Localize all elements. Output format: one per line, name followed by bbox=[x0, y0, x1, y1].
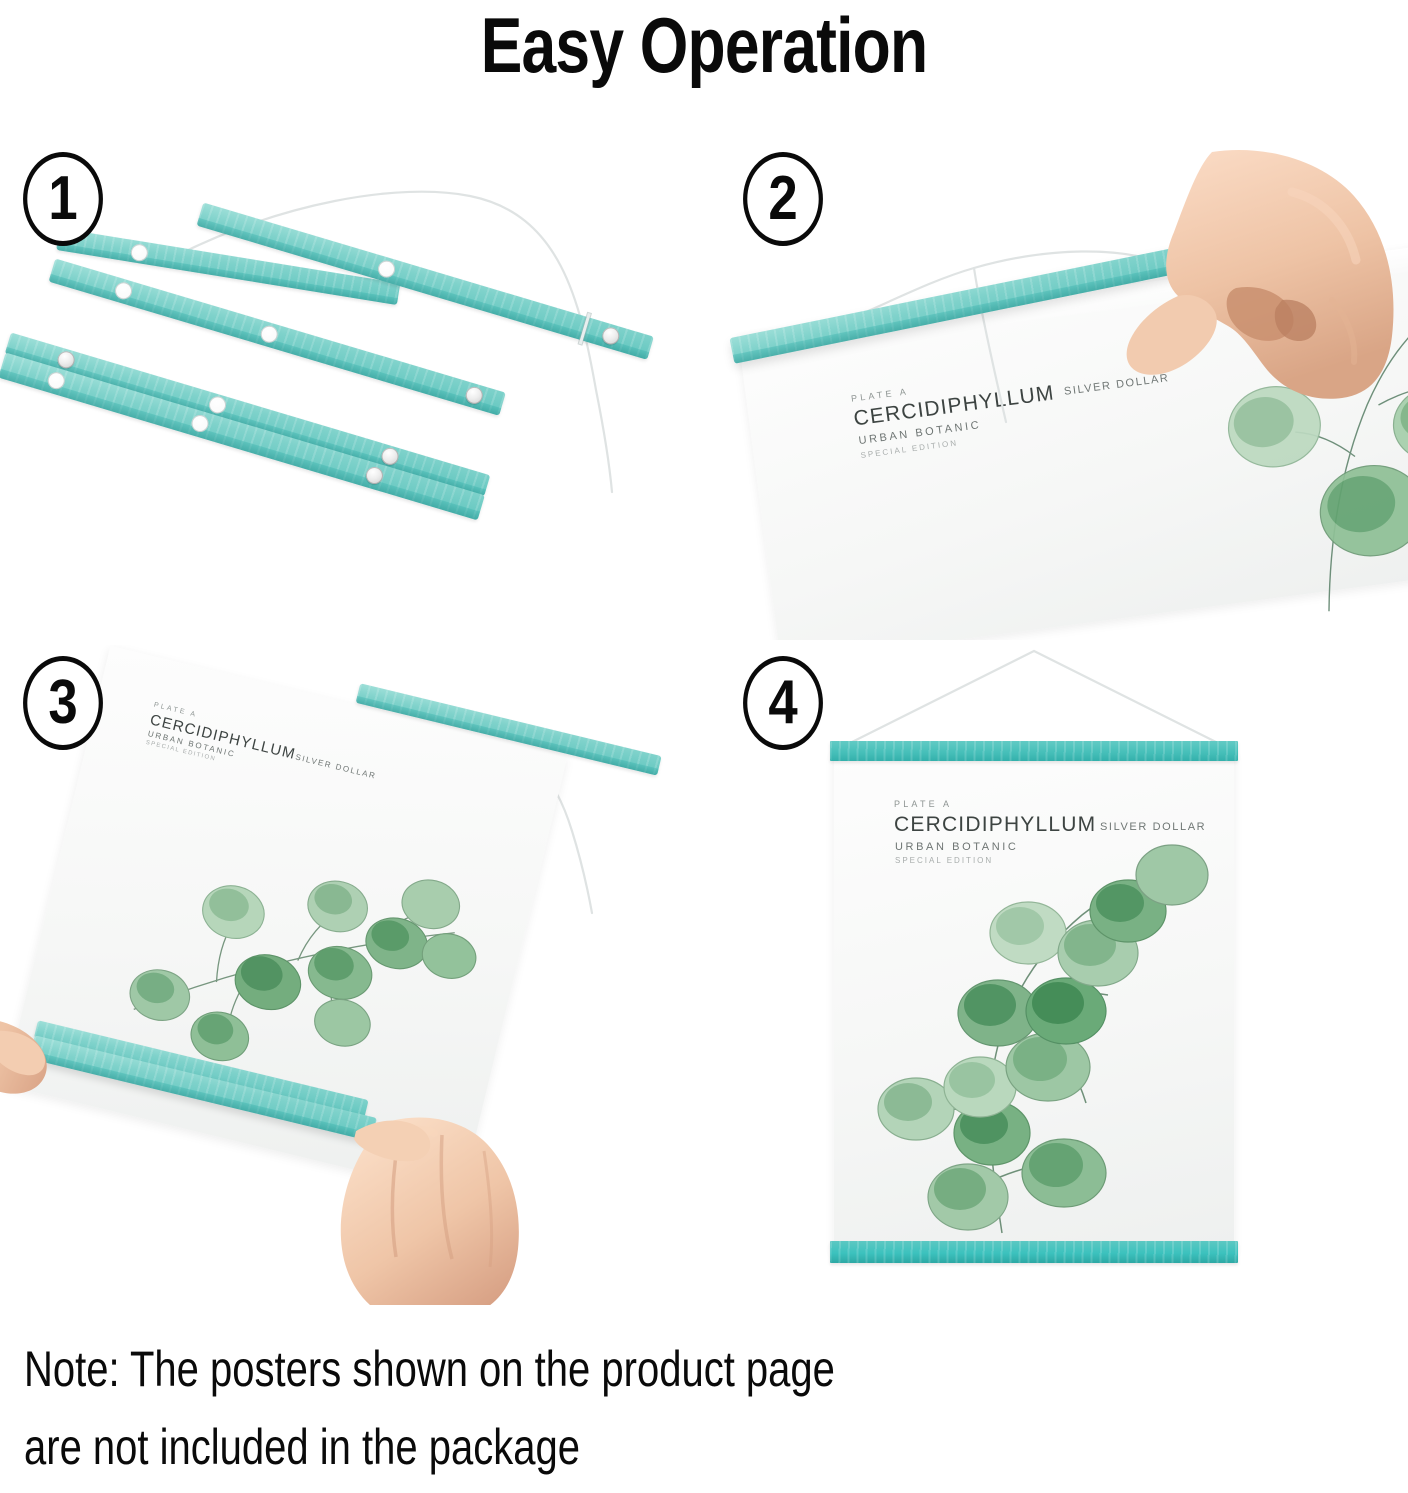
poster-edition: SPECIAL EDITION bbox=[895, 856, 993, 865]
frame-rail-top bbox=[830, 741, 1238, 761]
step-badge-3: 3 bbox=[23, 656, 103, 750]
page-title: Easy Operation bbox=[141, 2, 1267, 88]
poster-artwork-leaves bbox=[876, 881, 1206, 1241]
hand-pressing-rail bbox=[1086, 150, 1408, 440]
poster-variety: SILVER DOLLAR bbox=[295, 752, 378, 780]
hand-left-holding-rail bbox=[0, 985, 84, 1185]
hand-right-holding-rail bbox=[326, 1107, 566, 1305]
frame-rail-bottom bbox=[830, 1241, 1238, 1263]
poster-plate-label: PLATE A bbox=[894, 799, 952, 809]
note-line-2: are not included in the package bbox=[24, 1408, 1120, 1486]
step-1-illustration bbox=[0, 140, 704, 640]
poster-sheet: PLATE A CERCIDIPHYLLUM SILVER DOLLAR URB… bbox=[834, 751, 1234, 1253]
poster-species: CERCIDIPHYLLUM bbox=[894, 813, 1096, 837]
note-line-1: Note: The posters shown on the product p… bbox=[24, 1330, 1120, 1408]
wood-grain bbox=[830, 1241, 1238, 1263]
poster-collection: URBAN BOTANIC bbox=[895, 841, 1018, 853]
step-badge-1: 1 bbox=[23, 152, 103, 246]
step-badge-4: 4 bbox=[743, 656, 823, 750]
step-4-illustration: PLATE A CERCIDIPHYLLUM SILVER DOLLAR URB… bbox=[704, 645, 1408, 1305]
wood-grain bbox=[830, 741, 1238, 761]
note-disclaimer: Note: The posters shown on the product p… bbox=[24, 1330, 1120, 1486]
step-badge-2: 2 bbox=[743, 152, 823, 246]
step-3-illustration: PLATE A CERCIDIPHYLLUM SILVER DOLLAR URB… bbox=[0, 645, 704, 1305]
poster-variety: SILVER DOLLAR bbox=[1100, 821, 1206, 833]
